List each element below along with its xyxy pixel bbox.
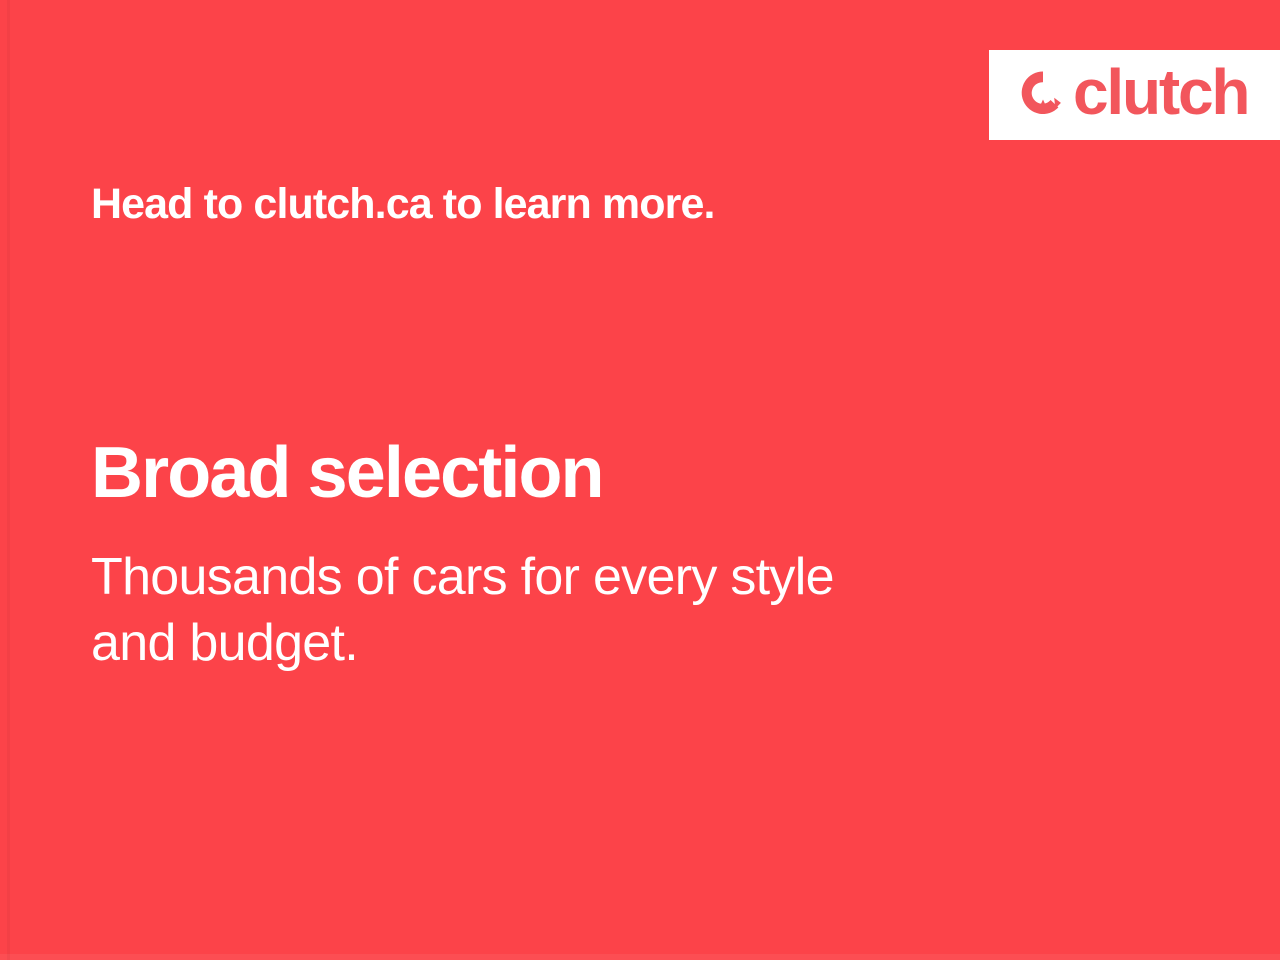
slide-canvas: clutch Head to clutch.ca to learn more. … <box>0 0 1280 960</box>
page-title: Broad selection <box>91 437 603 509</box>
slide-bottom-edge-artifact <box>0 954 1280 960</box>
kicker-text: Head to clutch.ca to learn more. <box>91 180 715 228</box>
slide-left-edge-artifact <box>7 0 10 960</box>
subheading-line-1: Thousands of cars for every style <box>91 544 1051 610</box>
subheading: Thousands of cars for every style and bu… <box>91 544 1051 676</box>
brand-logo-lockup: clutch <box>1015 63 1248 127</box>
subheading-line-2: and budget. <box>91 610 1051 676</box>
clutch-c-mark-icon <box>1015 67 1071 123</box>
brand-logo-plate[interactable]: clutch <box>989 50 1280 140</box>
brand-wordmark: clutch <box>1073 60 1248 124</box>
